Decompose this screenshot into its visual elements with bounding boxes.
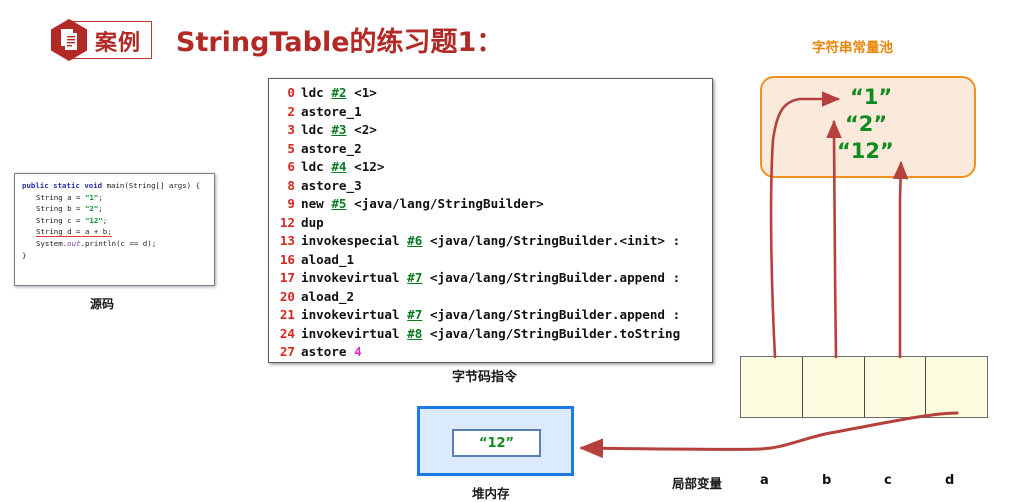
bytecode-opcode: invokespecial <box>301 233 400 248</box>
arrow-slot-d-to-heap <box>582 413 957 449</box>
bytecode-operand-desc: <12> <box>354 159 384 174</box>
source-line-highlighted: String d = a + b; <box>22 226 214 238</box>
heap-caption: 堆内存 <box>472 483 510 502</box>
document-icon <box>61 29 78 50</box>
bytecode-row: 17invokevirtual #7 <java/lang/StringBuil… <box>269 269 712 288</box>
bytecode-row: 21invokevirtual #7 <java/lang/StringBuil… <box>269 306 712 325</box>
bytecode-row: 8astore_3 <box>269 177 712 196</box>
bytecode-opcode: astore_3 <box>301 178 362 193</box>
string-pool-entry-3: “12” <box>837 139 894 163</box>
bytecode-pc: 16 <box>269 251 295 270</box>
bytecode-pc: 20 <box>269 288 295 307</box>
local-variable-table <box>740 356 988 418</box>
bytecode-row: 24invokevirtual #8 <java/lang/StringBuil… <box>269 325 712 344</box>
bytecode-opcode: invokevirtual <box>301 307 400 322</box>
local-variable-cell-d <box>926 357 987 417</box>
string-pool-title: 字符串常量池 <box>812 36 893 56</box>
local-variable-label-a: a <box>760 473 769 488</box>
source-line: public static void main(String[] args) { <box>22 180 214 192</box>
source-line: String b = "2"; <box>22 203 214 215</box>
bytecode-opcode: aload_2 <box>301 289 354 304</box>
bytecode-operand-desc: <1> <box>354 85 377 100</box>
local-variable-label-d: d <box>945 473 954 488</box>
string-pool-entry-1: “1” <box>850 85 892 109</box>
bytecode-operand-desc: <java/lang/StringBuilder.append : <box>430 270 680 285</box>
bytecode-pc: 13 <box>269 232 295 251</box>
heap-object-cell: “12” <box>452 429 541 457</box>
bytecode-opcode: new <box>301 196 324 211</box>
bytecode-row: 2astore_1 <box>269 103 712 122</box>
source-line: } <box>22 250 214 262</box>
bytecode-operand-number: 4 <box>354 344 362 359</box>
bytecode-pc: 5 <box>269 140 295 159</box>
bytecode-opcode: dup <box>301 215 324 230</box>
bytecode-pc: 24 <box>269 325 295 344</box>
bytecode-pc: 6 <box>269 158 295 177</box>
page-header: 案例 StringTable的练习题1： <box>0 0 1024 70</box>
source-line: String a = "1"; <box>22 192 214 204</box>
source-panel-caption: 源码 <box>90 295 114 312</box>
constant-pool-ref: #7 <box>407 270 422 285</box>
constant-pool-ref: #2 <box>331 85 346 100</box>
bytecode-row: 16aload_1 <box>269 251 712 270</box>
bytecode-row: 13invokespecial #6 <java/lang/StringBuil… <box>269 232 712 251</box>
source-code-panel: public static void main(String[] args) {… <box>14 173 215 286</box>
bytecode-opcode: ldc <box>301 85 324 100</box>
bytecode-pc: 3 <box>269 121 295 140</box>
local-variable-cell-a <box>741 357 803 417</box>
bytecode-row: 12dup <box>269 214 712 233</box>
bytecode-opcode: invokevirtual <box>301 326 400 341</box>
constant-pool-ref: #4 <box>331 159 346 174</box>
bytecode-pc: 9 <box>269 195 295 214</box>
bytecode-opcode: astore_1 <box>301 104 362 119</box>
bytecode-row: 27astore 4 <box>269 343 712 362</box>
bytecode-opcode: astore_2 <box>301 141 362 156</box>
bytecode-row: 20aload_2 <box>269 288 712 307</box>
bytecode-opcode: invokevirtual <box>301 270 400 285</box>
bytecode-opcode: ldc <box>301 122 324 137</box>
bytecode-row: 5astore_2 <box>269 140 712 159</box>
constant-pool-ref: #8 <box>407 326 422 341</box>
bytecode-panel: 0ldc #2 <1>2astore_13ldc #3 <2>5astore_2… <box>268 78 713 363</box>
bytecode-pc: 0 <box>269 84 295 103</box>
local-variable-caption: 局部变量 <box>672 473 722 492</box>
heap-object-value: “12” <box>479 436 514 451</box>
bytecode-row: 6ldc #4 <12> <box>269 158 712 177</box>
local-variable-label-c: c <box>884 473 892 488</box>
bytecode-opcode: ldc <box>301 159 324 174</box>
constant-pool-ref: #3 <box>331 122 346 137</box>
local-variable-cell-c <box>865 357 927 417</box>
bytecode-pc: 21 <box>269 306 295 325</box>
source-line: String c = "12"; <box>22 215 214 227</box>
bytecode-row: 0ldc #2 <1> <box>269 84 712 103</box>
bytecode-operand-desc: <java/lang/StringBuilder.toString <box>430 326 680 341</box>
bytecode-pc: 17 <box>269 269 295 288</box>
bytecode-opcode: aload_1 <box>301 252 354 267</box>
bytecode-row: 3ldc #3 <2> <box>269 121 712 140</box>
arrow-slot-c-to-pool-12 <box>900 163 901 357</box>
badge-label: 案例 <box>95 25 151 57</box>
bytecode-operand-desc: <java/lang/StringBuilder> <box>354 196 544 211</box>
bytecode-pc: 12 <box>269 214 295 233</box>
constant-pool-ref: #7 <box>407 307 422 322</box>
source-line: System.out.println(c == d); <box>22 238 214 250</box>
local-variable-cell-b <box>803 357 865 417</box>
constant-pool-ref: #5 <box>331 196 346 211</box>
bytecode-row: 9new #5 <java/lang/StringBuilder> <box>269 195 712 214</box>
bytecode-opcode: astore <box>301 344 347 359</box>
string-pool-entry-2: “2” <box>845 112 887 136</box>
bytecode-panel-caption: 字节码指令 <box>452 366 517 385</box>
bytecode-pc: 8 <box>269 177 295 196</box>
constant-pool-ref: #6 <box>407 233 422 248</box>
bytecode-operand-desc: <java/lang/StringBuilder.<init> : <box>430 233 680 248</box>
bytecode-pc: 27 <box>269 343 295 362</box>
bytecode-pc: 2 <box>269 103 295 122</box>
bytecode-operand-desc: <2> <box>354 122 377 137</box>
bytecode-operand-desc: <java/lang/StringBuilder.append : <box>430 307 680 322</box>
local-variable-label-b: b <box>822 473 831 488</box>
page-title: StringTable的练习题1： <box>176 20 503 59</box>
